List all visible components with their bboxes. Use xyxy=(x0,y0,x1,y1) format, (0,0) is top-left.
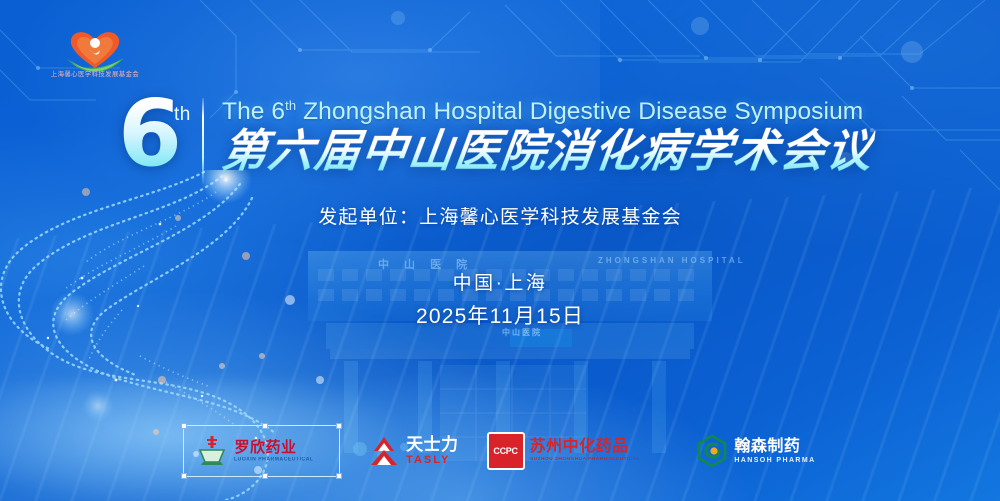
triangle-mountain-icon xyxy=(367,434,401,468)
selection-handle-br[interactable] xyxy=(336,473,342,479)
place-line: 中国·上海 xyxy=(0,268,1000,295)
heart-hand-icon xyxy=(46,24,144,72)
hexagon-swirl-icon xyxy=(695,434,729,468)
selection-handle-bc[interactable] xyxy=(262,473,268,479)
sponsor-name-en: LUOXIN PHARMACEUTICAL xyxy=(234,457,314,462)
sponsor-name-cn: 罗欣药业 xyxy=(234,440,328,455)
sponsor-logo-hansoh[interactable]: 翰森制药 HANSOH PHARMA xyxy=(695,429,815,473)
building-sign-en: ZHONGSHAN HOSPITAL xyxy=(598,256,746,265)
chinese-title: 第六届中山医院消化病学术会议 xyxy=(219,127,876,176)
edition-badge: 6 th xyxy=(118,94,188,186)
edition-number: 6 xyxy=(118,88,182,180)
sponsor-name-cn: 苏州中化药品 xyxy=(530,439,668,455)
sponsor-name-en: SUZHOU ZHONGHUA PHARMACEUTICAL xyxy=(530,457,640,462)
selection-handle-tc[interactable] xyxy=(262,423,268,429)
sponsor-logo-ccpc[interactable]: CCPC 苏州中化药品 SUZHOU ZHONGHUA PHARMACEUTIC… xyxy=(487,429,668,473)
edition-ordinal: th xyxy=(174,104,191,126)
sponsor-logo-luoxin[interactable]: 罗欣药业 LUOXIN PHARMACEUTICAL xyxy=(184,426,339,476)
english-title: The 6th Zhongshan Hospital Digestive Dis… xyxy=(222,98,873,126)
english-title-ordinal: th xyxy=(285,98,296,113)
sponsor-name-en: TASLY xyxy=(406,455,459,466)
english-title-prefix: The 6 xyxy=(222,98,285,125)
sponsor-logo-tasly[interactable]: 天士力 TASLY xyxy=(367,429,459,473)
foundation-logo[interactable]: 上海馨心医学科技发展基金会 xyxy=(46,24,144,86)
ccpc-badge-icon: CCPC xyxy=(487,432,525,470)
selection-handle-bl[interactable] xyxy=(181,473,187,479)
selection-handle-tr[interactable] xyxy=(336,423,342,429)
foundation-logo-caption: 上海馨心医学科技发展基金会 xyxy=(24,70,166,79)
sponsor-logo-row: 罗欣药业 LUOXIN PHARMACEUTICAL 天士力 TASLY xyxy=(0,427,1000,475)
mortar-pestle-icon xyxy=(195,434,229,468)
sponsor-name-cn: 天士力 xyxy=(406,436,459,453)
sponsor-name-cn: 翰森制药 xyxy=(734,439,815,455)
organiser-line: 发起单位：上海馨心医学科技发展基金会 xyxy=(0,202,1000,229)
title-block: 6 th The 6th Zhongshan Hospital Digestiv… xyxy=(118,94,873,186)
date-line: 2025年11月15日 xyxy=(0,300,1000,330)
title-divider xyxy=(202,98,204,184)
sponsor-name-en: HANSOH PHARMA xyxy=(734,457,815,464)
conference-banner: 中 山 医 院 ZHONGSHAN HOSPITAL 中山医院 xyxy=(0,0,1000,501)
english-title-rest: Zhongshan Hospital Digestive Disease Sym… xyxy=(296,98,863,125)
selection-handle-tl[interactable] xyxy=(181,423,187,429)
